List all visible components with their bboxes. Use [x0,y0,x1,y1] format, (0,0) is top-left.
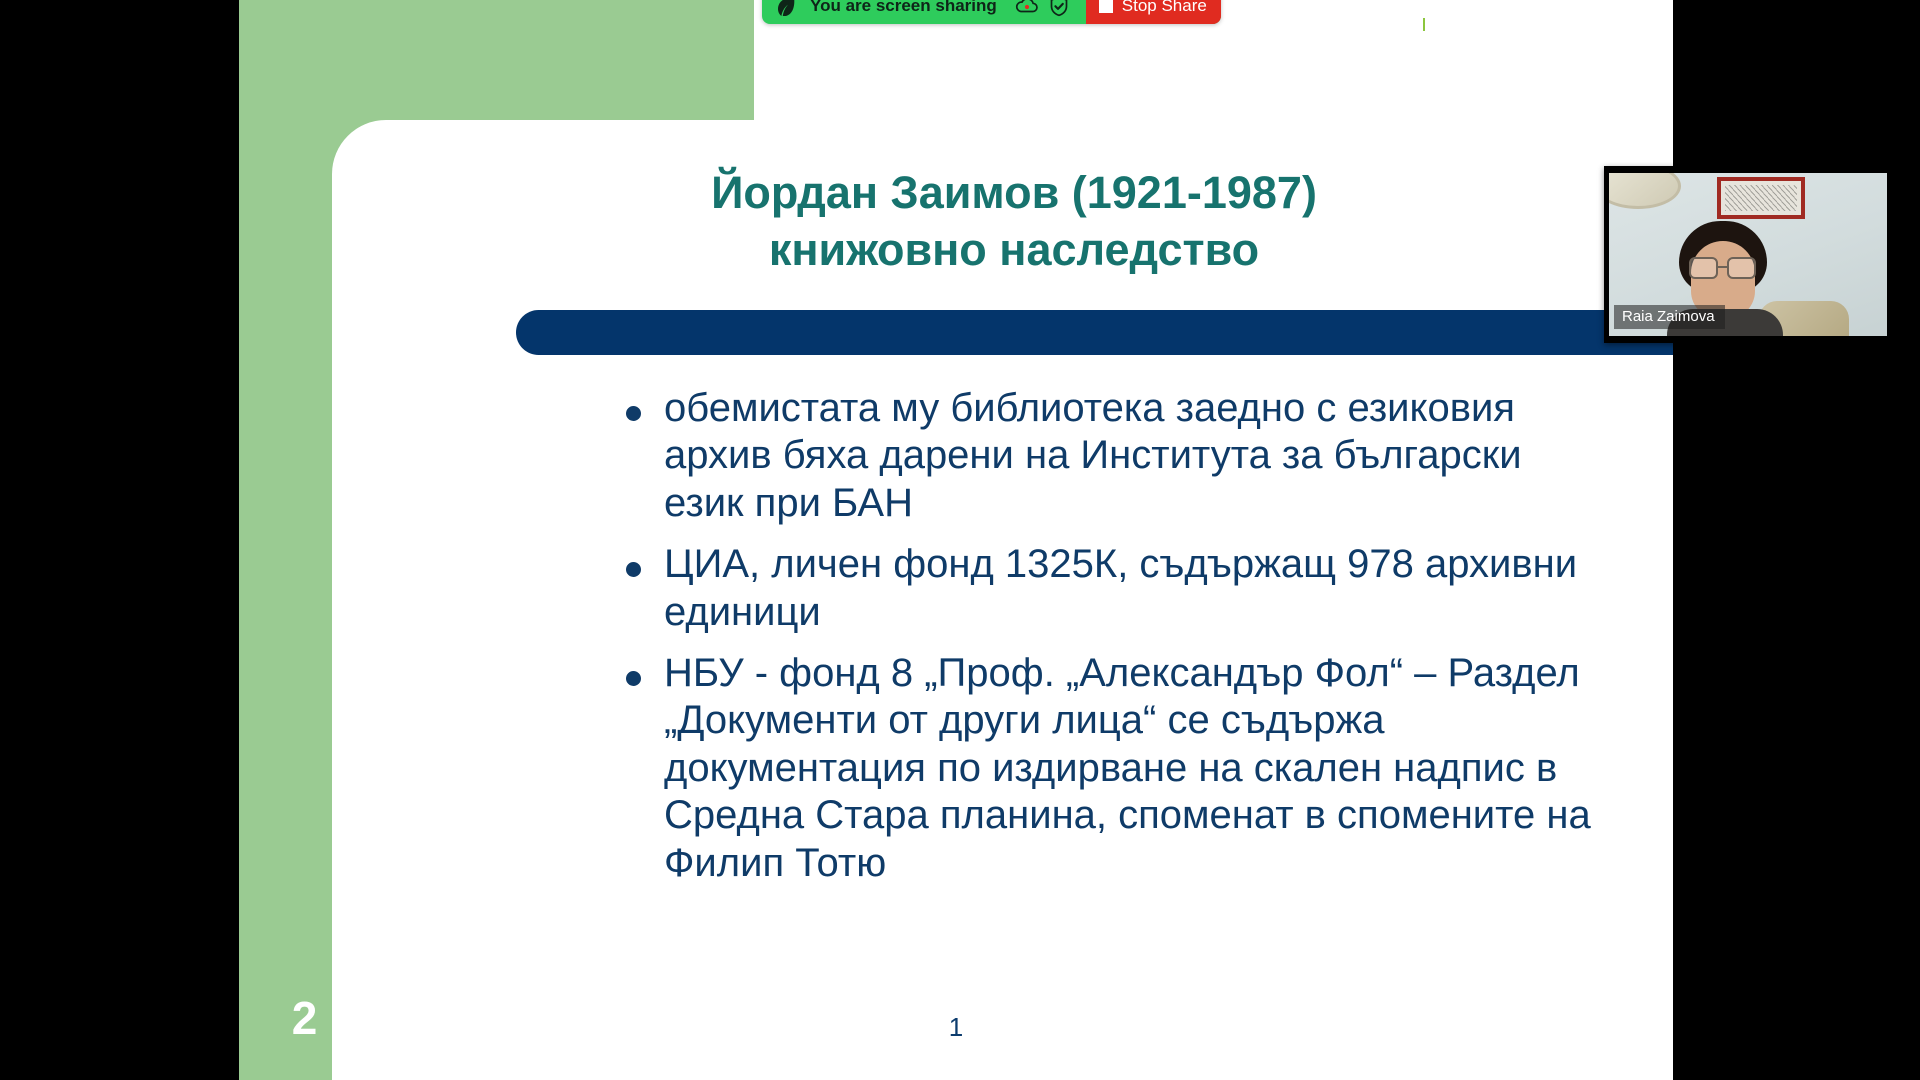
leaf-icon [776,0,796,18]
bullet-text: обемистата му библиотека заедно с езиков… [664,386,1522,525]
slide-accent-bar [516,310,1673,355]
list-item: обемистата му библиотека заедно с езиков… [612,385,1612,527]
screen: Йордан Заимов (1921-1987) книжовно насле… [0,0,1920,1080]
slide-bullet-list: обемистата му библиотека заедно с езиков… [612,385,1612,901]
screen-share-toolbar[interactable]: You are screen sharing Stop Share [762,0,1221,24]
slide-title: Йордан Заимов (1921-1987) книжовно насле… [469,165,1559,278]
bullet-dot-icon [626,671,641,686]
share-status-text: You are screen sharing [806,0,1011,16]
stop-share-label: Stop Share [1122,0,1207,16]
cloud-recording-icon[interactable] [1014,0,1040,19]
list-item: НБУ - фонд 8 „Проф. „Александър Фол“ – Р… [612,650,1612,887]
list-item: ЦИА, личен фонд 1325К, съдържащ 978 архи… [612,541,1612,636]
presentation-slide: Йордан Заимов (1921-1987) книжовно насле… [239,0,1673,1080]
webcam-video: Raia Zaimova [1609,173,1887,336]
bullet-dot-icon [626,406,641,421]
webcam-pip[interactable]: Raia Zaimova [1604,166,1892,343]
bullet-text: ЦИА, личен фонд 1325К, съдържащ 978 архи… [664,542,1577,633]
green-tick-marker [1423,18,1425,31]
glasses-icon [1689,257,1759,279]
page-footer-number: 1 [239,1012,1673,1043]
stop-share-button[interactable]: Stop Share [1086,0,1221,24]
bullet-text: НБУ - фонд 8 „Проф. „Александър Фол“ – Р… [664,651,1591,885]
bullet-dot-icon [626,562,641,577]
wall-picture-frame [1717,177,1805,219]
participant-name-label: Raia Zaimova [1614,305,1725,329]
stop-square-icon [1099,0,1113,13]
shield-check-icon[interactable] [1046,0,1072,19]
